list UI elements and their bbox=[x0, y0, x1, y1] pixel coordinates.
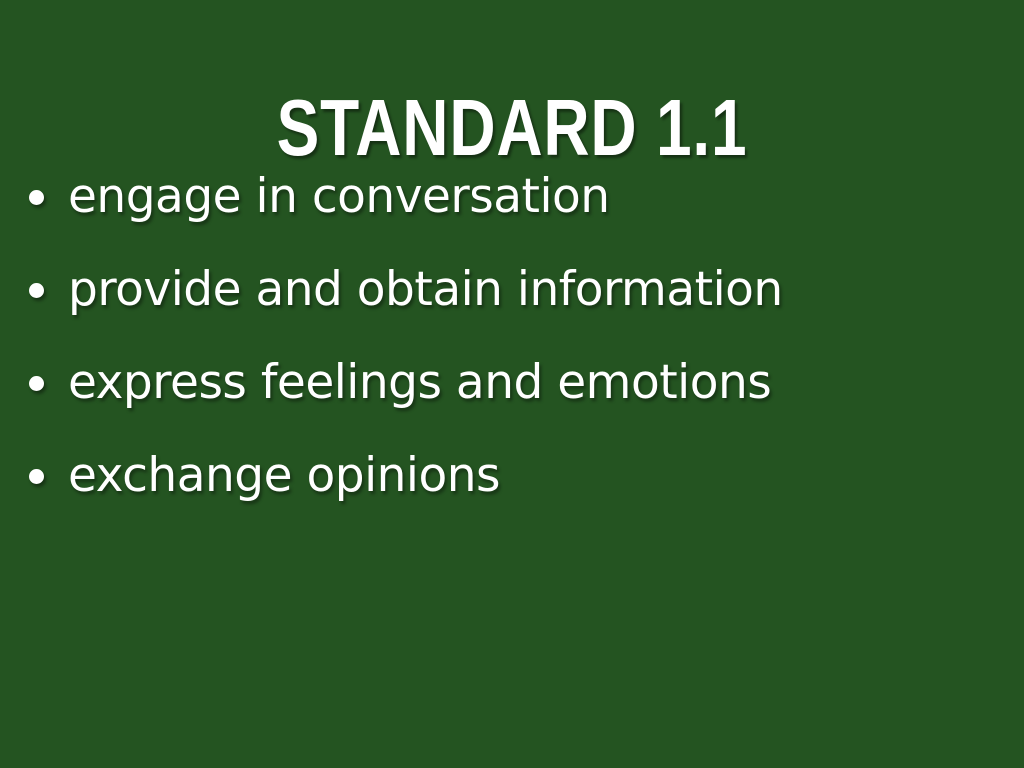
bullet-dot-icon bbox=[29, 283, 44, 298]
list-item: exchange opinions bbox=[0, 429, 1024, 522]
list-item: express feelings and emotions bbox=[0, 336, 1024, 429]
bullet-dot-icon bbox=[29, 469, 44, 484]
list-item: engage in conversation bbox=[0, 150, 1024, 243]
bullet-list: engage in conversation provide and obtai… bbox=[0, 150, 1024, 522]
list-item: provide and obtain information bbox=[0, 243, 1024, 336]
bullet-item-label: provide and obtain information bbox=[68, 265, 783, 314]
bullet-item-label: exchange opinions bbox=[68, 451, 500, 500]
presentation-slide: STANDARD 1.1 engage in conversation prov… bbox=[0, 0, 1024, 768]
bullet-dot-icon bbox=[29, 190, 44, 205]
bullet-dot-icon bbox=[29, 376, 44, 391]
bullet-item-label: express feelings and emotions bbox=[68, 358, 771, 407]
bullet-item-label: engage in conversation bbox=[68, 172, 610, 221]
